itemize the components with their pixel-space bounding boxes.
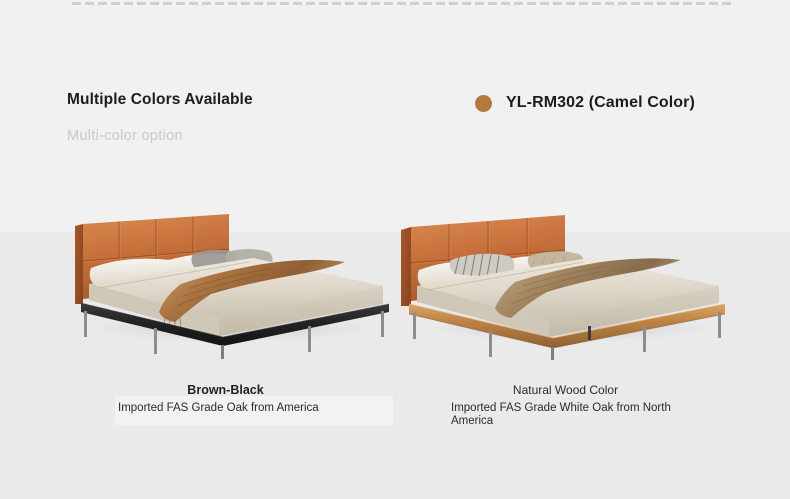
- product-description: Imported FAS Grade White Oak from North …: [451, 402, 681, 428]
- product-grid: Brown-Black Imported FAS Grade Oak from …: [0, 200, 790, 440]
- product-photo-natural-wood: [393, 200, 738, 360]
- bed-illustration-natural-wood: [393, 200, 738, 360]
- color-dot-icon: [475, 95, 492, 112]
- header-left-group: Multiple Colors Available Multi-color op…: [67, 90, 397, 145]
- product-showcase-page: Multiple Colors Available Multi-color op…: [0, 0, 790, 499]
- product-card-natural-wood[interactable]: Natural Wood Color Imported FAS Grade Wh…: [393, 200, 738, 440]
- product-photo-brown-black: [53, 200, 398, 360]
- product-name: Brown-Black: [53, 382, 398, 398]
- dashed-divider: [72, 2, 735, 5]
- product-card-brown-black[interactable]: Brown-Black Imported FAS Grade Oak from …: [53, 200, 398, 440]
- product-caption-natural-wood: Natural Wood Color Imported FAS Grade Wh…: [393, 382, 738, 428]
- bed-illustration-brown-black: [53, 200, 398, 360]
- section-header: Multiple Colors Available Multi-color op…: [0, 90, 790, 160]
- product-caption-brown-black: Brown-Black Imported FAS Grade Oak from …: [53, 382, 398, 415]
- page-title: Multiple Colors Available: [67, 90, 397, 110]
- product-description: Imported FAS Grade Oak from America: [118, 402, 348, 415]
- color-variant-label: YL-RM302 (Camel Color): [506, 94, 695, 112]
- page-subtitle: Multi-color option: [67, 127, 397, 145]
- product-name: Natural Wood Color: [393, 382, 738, 398]
- color-variant-selector[interactable]: YL-RM302 (Camel Color): [475, 94, 695, 112]
